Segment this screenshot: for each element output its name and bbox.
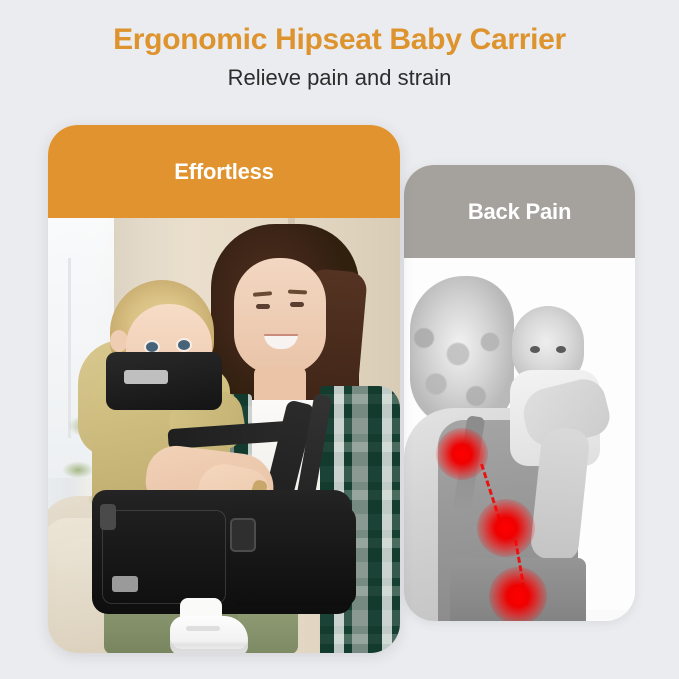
panel-effortless-photo [48, 218, 400, 653]
panel-effortless-label: Effortless [174, 159, 273, 185]
carrier-brand-patch [112, 576, 138, 592]
panel-effortless[interactable]: Effortless [48, 125, 400, 653]
panel-back-pain[interactable]: Back Pain [404, 165, 635, 621]
panel-effortless-header: Effortless [48, 125, 400, 218]
carrier-zipper-pull [100, 504, 116, 530]
carrier-buckle [230, 518, 256, 552]
comparison-stage: Back Pain [0, 0, 679, 679]
carrier-shoulder-pad [106, 352, 222, 410]
panel-back-pain-label: Back Pain [468, 199, 571, 225]
toddler-sneaker [170, 616, 248, 653]
panel-back-pain-header: Back Pain [404, 165, 635, 258]
woman-skirt [450, 558, 586, 621]
panel-back-pain-photo [404, 258, 635, 621]
back-pain-illustration [404, 258, 635, 621]
effortless-illustration [48, 218, 400, 653]
mother-face [234, 258, 326, 374]
